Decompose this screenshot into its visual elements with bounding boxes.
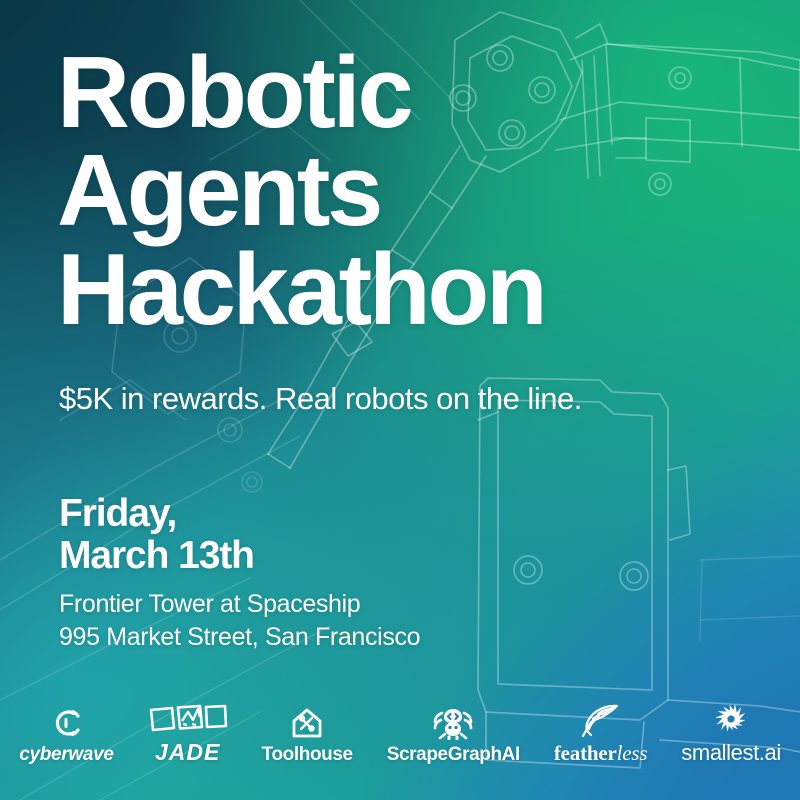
headline-line-1: Robotic xyxy=(57,44,545,142)
featherless-name-italic: less xyxy=(617,741,648,765)
sponsor-name-label: JADE xyxy=(155,739,220,766)
sponsor-jade[interactable]: JADE xyxy=(148,701,228,766)
event-venue-name: Frontier Tower at Spaceship xyxy=(59,588,420,621)
sponsor-name-label: cyberwave xyxy=(19,744,113,766)
sponsor-smallest-ai[interactable]: smallest.ai xyxy=(681,702,781,766)
toolhouse-house-tools-icon xyxy=(290,706,324,740)
subtitle: $5K in rewards. Real robots on the line. xyxy=(59,381,582,417)
smallest-ai-burst-icon xyxy=(713,702,749,736)
featherless-feather-icon xyxy=(581,703,621,737)
event-details: Friday, March 13th Frontier Tower at Spa… xyxy=(59,493,420,654)
sponsor-name-label: ScrapeGraphAI xyxy=(387,744,520,766)
event-date-line-2: March 13th xyxy=(59,535,420,577)
featherless-name-regular: feather xyxy=(554,741,617,765)
scrapegraphai-spider-icon xyxy=(432,706,474,740)
sponsor-logo-row: cyberwave JADE xyxy=(0,701,800,766)
event-venue-address: 995 Market Street, San Francisco xyxy=(59,621,420,654)
sponsor-cyberwave[interactable]: cyberwave xyxy=(19,706,113,766)
sponsor-name-label: featherless xyxy=(554,741,647,766)
sponsor-name-label: smallest.ai xyxy=(681,740,781,766)
cyberwave-c-icon xyxy=(49,706,83,740)
sponsor-featherless[interactable]: featherless xyxy=(554,703,647,766)
headline-line-2: Agents xyxy=(57,142,545,240)
jade-panels-icon xyxy=(148,701,228,735)
headline-line-3: Hackathon xyxy=(57,241,545,339)
event-poster: Robotic Agents Hackathon $5K in rewards.… xyxy=(0,0,800,800)
sponsor-toolhouse[interactable]: Toolhouse xyxy=(262,706,353,766)
event-date-line-1: Friday, xyxy=(59,493,420,535)
page-title: Robotic Agents Hackathon xyxy=(57,44,545,339)
sponsor-name-label: Toolhouse xyxy=(262,744,353,766)
sponsor-scrapegraphai[interactable]: ScrapeGraphAI xyxy=(387,706,520,766)
